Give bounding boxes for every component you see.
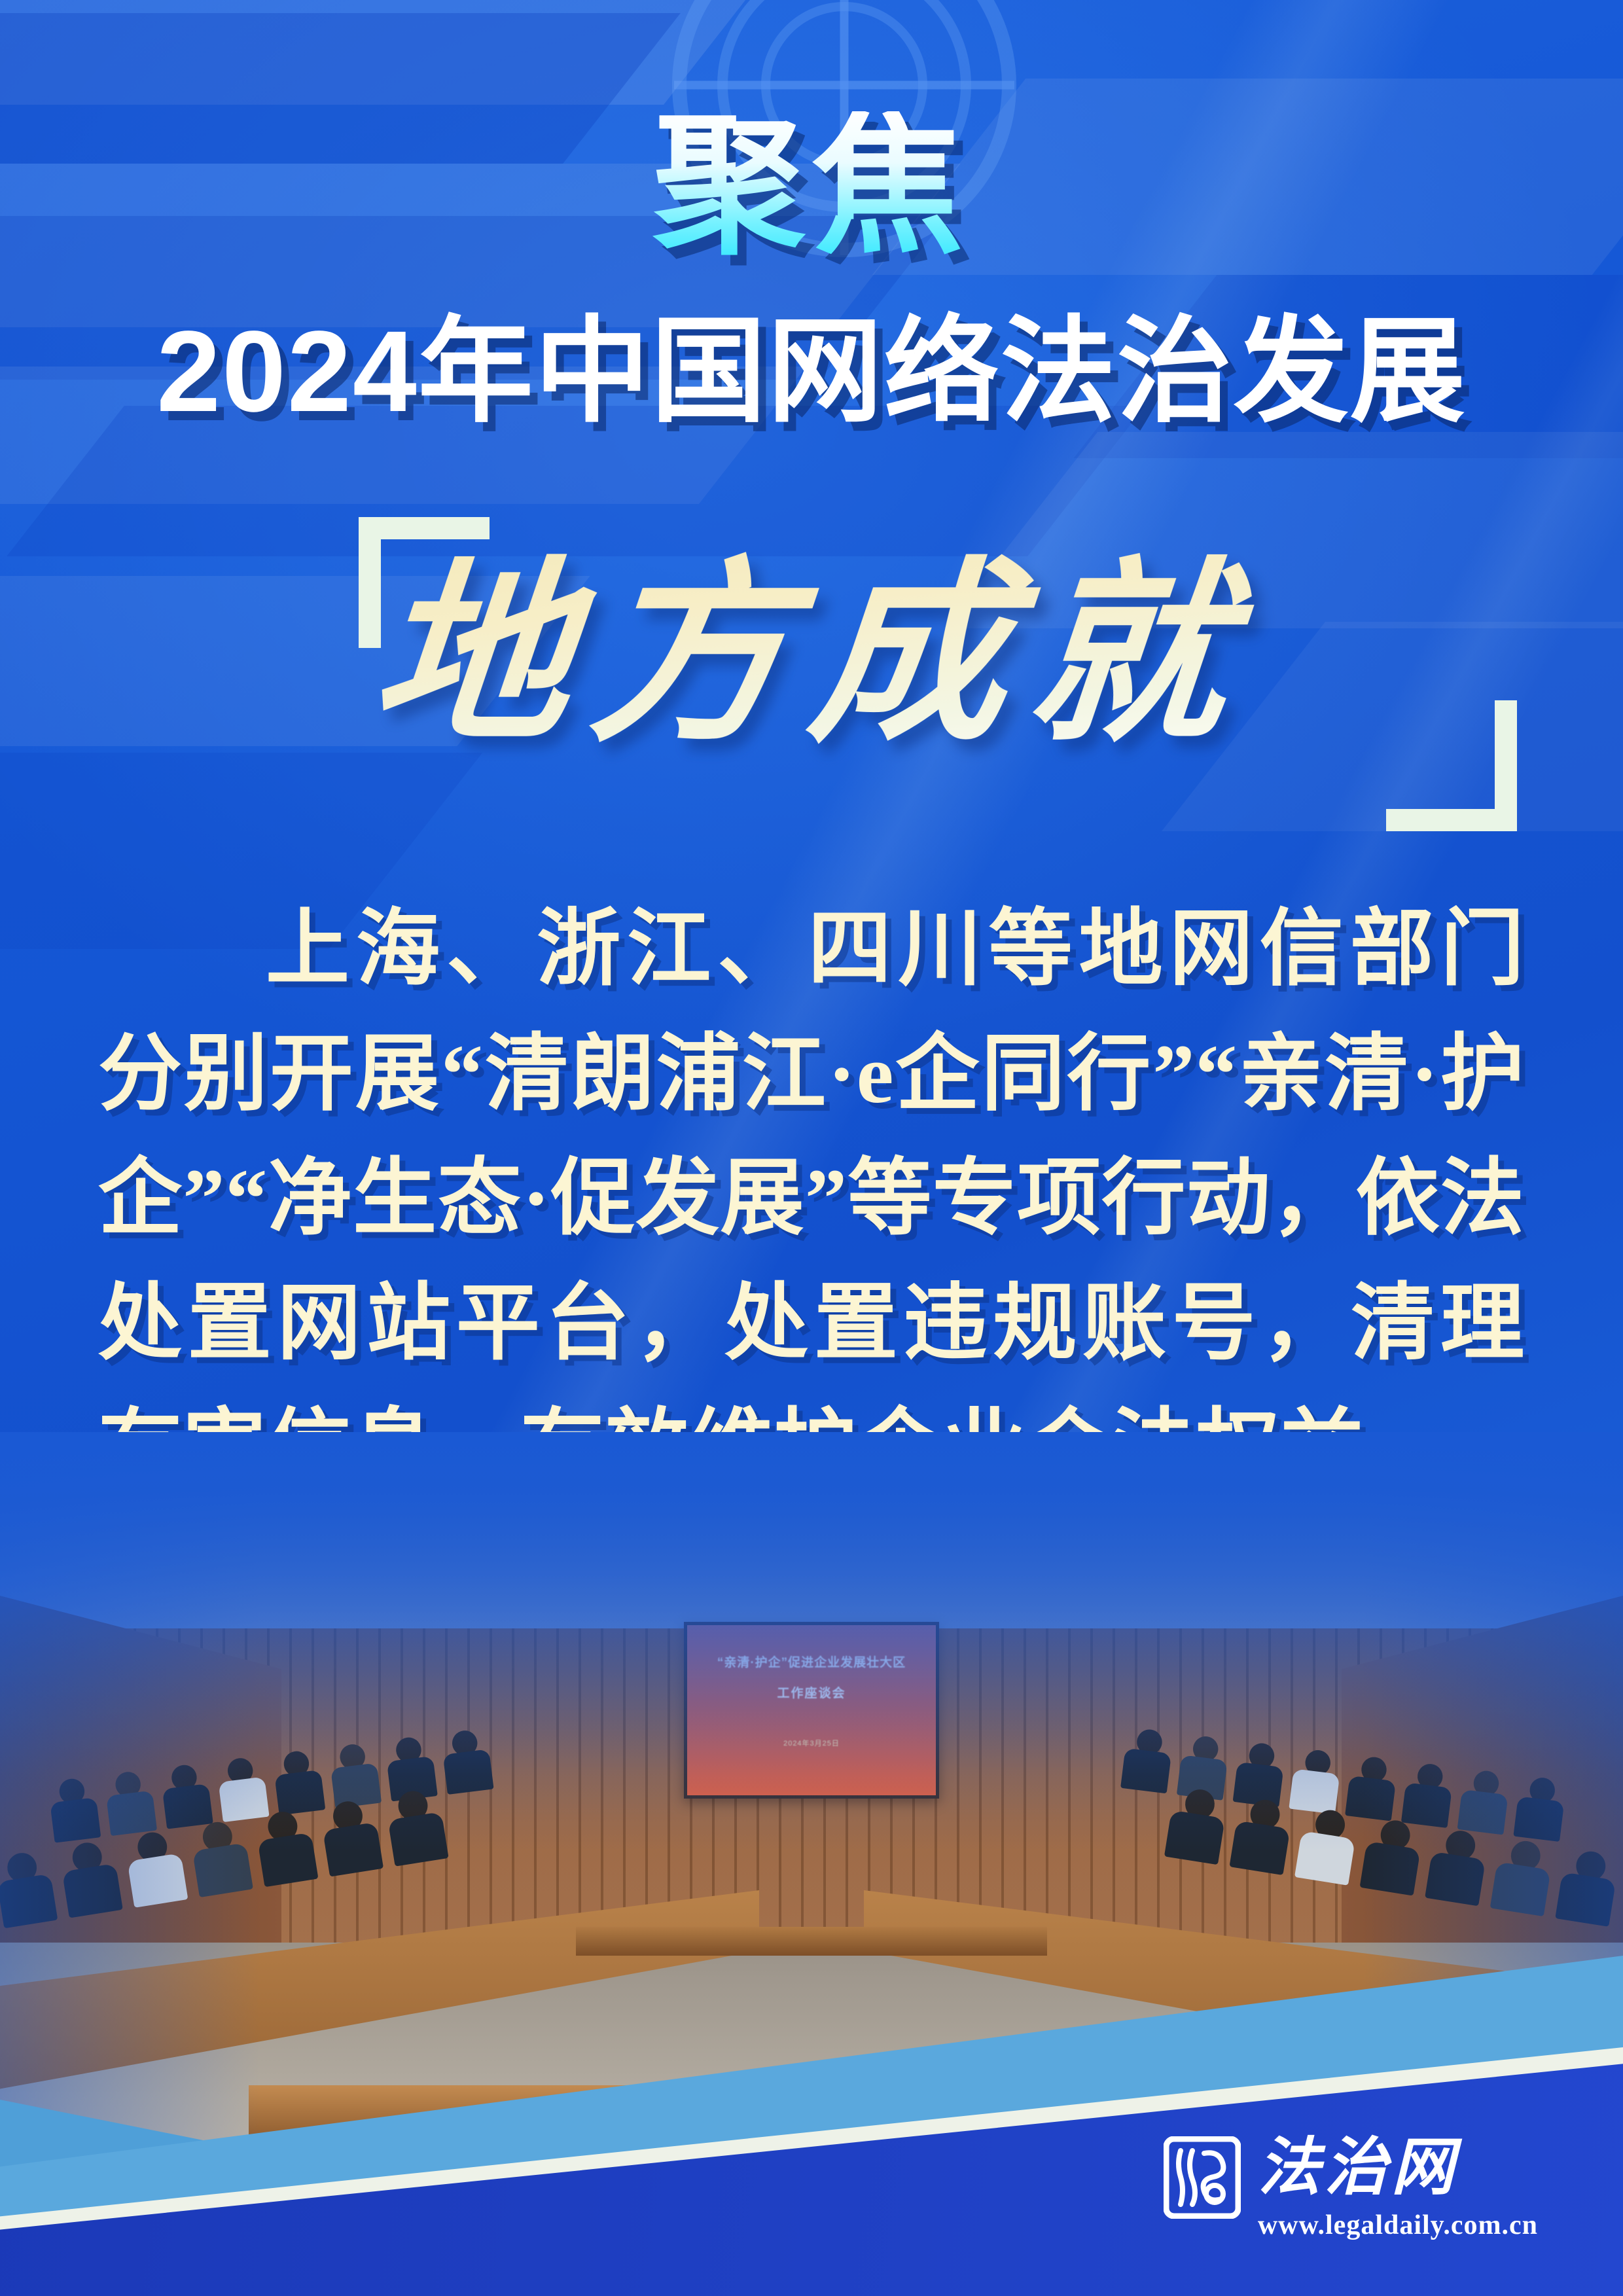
seal-icon [1164, 2136, 1241, 2219]
page-headline: 聚焦 [0, 111, 1623, 263]
body-paragraph: 上海、浙江、四川等地网信部门分别开展“清朗浦江·e企同行”“亲清·护企”“净生态… [98, 887, 1525, 1511]
legaldaily-logo[interactable]: 法治网 www.legaldaily.com.cn [1164, 2136, 1538, 2241]
logo-name: 法治网 [1258, 2136, 1538, 2199]
page-subtitle: 2024年中国网络法治发展 [0, 314, 1623, 429]
logo-url[interactable]: www.legaldaily.com.cn [1258, 2210, 1538, 2241]
logo-text-block: 法治网 www.legaldaily.com.cn [1258, 2136, 1538, 2241]
poster-root: 聚焦 2024年中国网络法治发展 地方成就 上海、浙江、四川等地网信部门分别开展… [0, 0, 1623, 2296]
calligraphy-title: 地方成就 [0, 540, 1623, 772]
calligraphy-block: 地方成就 [0, 504, 1623, 857]
photo-top-fade [0, 1432, 1623, 1851]
body-copy: 上海、浙江、四川等地网信部门分别开展“清朗浦江·e企同行”“亲清·护企”“净生态… [98, 887, 1525, 1511]
